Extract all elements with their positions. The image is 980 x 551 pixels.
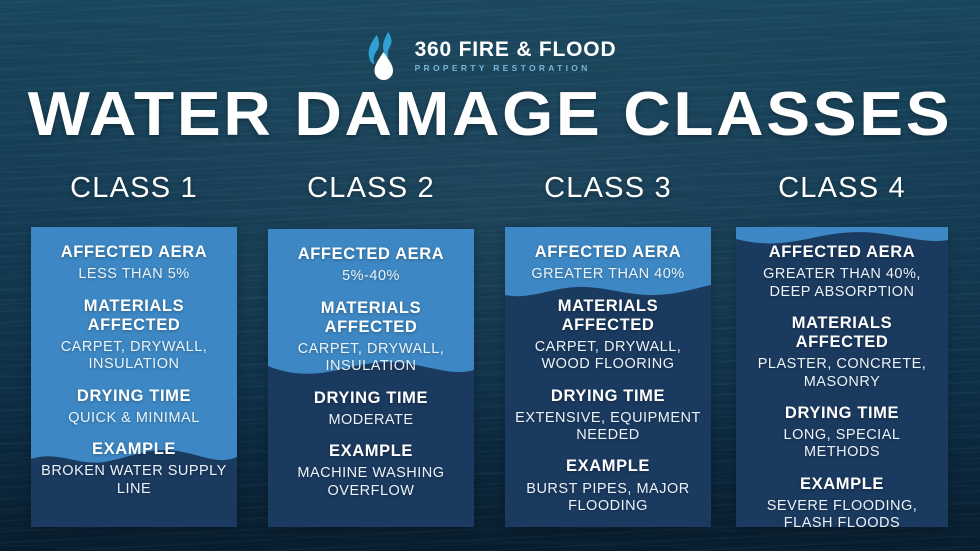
field-label: DRYING TIME: [41, 387, 227, 406]
field-example: EXAMPLE SEVERE FLOODING, FLASH FLOODS: [746, 475, 938, 527]
field-label: MATERIALS AFFECTED: [746, 314, 938, 352]
field-value: LESS THAN 5%: [41, 266, 227, 283]
field-value: MACHINE WASHING OVERFLOW: [278, 465, 464, 500]
field-materials-affected: MATERIALS AFFECTED CARPET, DRYWALL, WOOD…: [515, 297, 701, 374]
field-value: CARPET, DRYWALL, INSULATION: [278, 341, 464, 376]
field-label: MATERIALS AFFECTED: [515, 297, 701, 335]
field-label: AFFECTED AERA: [515, 243, 701, 262]
class-heading: CLASS 3: [505, 172, 711, 205]
class-card: AFFECTED AERA GREATER THAN 40% MATERIALS…: [505, 227, 711, 527]
class-heading: CLASS 4: [736, 172, 948, 205]
field-value: EXTENSIVE, EQUIPMENT NEEDED: [515, 410, 701, 445]
field-value: BROKEN WATER SUPPLY LINE: [41, 463, 227, 498]
class-heading: CLASS 1: [31, 172, 237, 205]
field-example: EXAMPLE BURST PIPES, MAJOR FLOODING: [515, 457, 701, 515]
field-affected-area: AFFECTED AERA GREATER THAN 40%: [515, 243, 701, 284]
class-card: AFFECTED AERA 5%-40% MATERIALS AFFECTED …: [268, 229, 474, 527]
field-label: DRYING TIME: [515, 387, 701, 406]
field-materials-affected: MATERIALS AFFECTED CARPET, DRYWALL, INSU…: [278, 299, 464, 376]
field-materials-affected: MATERIALS AFFECTED CARPET, DRYWALL, INSU…: [41, 297, 227, 374]
field-affected-area: AFFECTED AERA GREATER THAN 40%, DEEP ABS…: [746, 243, 938, 301]
field-materials-affected: MATERIALS AFFECTED PLASTER, CONCRETE, MA…: [746, 314, 938, 391]
field-drying-time: DRYING TIME EXTENSIVE, EQUIPMENT NEEDED: [515, 387, 701, 445]
field-example: EXAMPLE MACHINE WASHING OVERFLOW: [278, 442, 464, 500]
field-label: EXAMPLE: [278, 442, 464, 461]
card-content: AFFECTED AERA 5%-40% MATERIALS AFFECTED …: [268, 229, 474, 518]
field-value: CARPET, DRYWALL, INSULATION: [41, 339, 227, 374]
class-columns: CLASS 1 AFFECTED AERA LESS THAN 5% MATER…: [0, 0, 980, 551]
field-label: EXAMPLE: [41, 440, 227, 459]
field-value: LONG, SPECIAL METHODS: [746, 427, 938, 462]
class-card: AFFECTED AERA LESS THAN 5% MATERIALS AFF…: [31, 227, 237, 527]
field-value: MODERATE: [278, 412, 464, 429]
field-value: CARPET, DRYWALL, WOOD FLOORING: [515, 339, 701, 374]
field-label: AFFECTED AERA: [278, 245, 464, 264]
field-label: DRYING TIME: [278, 389, 464, 408]
field-drying-time: DRYING TIME LONG, SPECIAL METHODS: [746, 404, 938, 462]
card-content: AFFECTED AERA LESS THAN 5% MATERIALS AFF…: [31, 227, 237, 516]
field-drying-time: DRYING TIME MODERATE: [278, 389, 464, 430]
field-label: DRYING TIME: [746, 404, 938, 423]
field-affected-area: AFFECTED AERA LESS THAN 5%: [41, 243, 227, 284]
field-example: EXAMPLE BROKEN WATER SUPPLY LINE: [41, 440, 227, 498]
field-value: GREATER THAN 40%: [515, 266, 701, 283]
field-value: 5%-40%: [278, 268, 464, 285]
class-card: AFFECTED AERA GREATER THAN 40%, DEEP ABS…: [736, 227, 948, 527]
class-heading: CLASS 2: [268, 172, 474, 205]
field-affected-area: AFFECTED AERA 5%-40%: [278, 245, 464, 286]
field-label: MATERIALS AFFECTED: [41, 297, 227, 335]
card-content: AFFECTED AERA GREATER THAN 40%, DEEP ABS…: [736, 227, 948, 527]
card-content: AFFECTED AERA GREATER THAN 40% MATERIALS…: [505, 227, 711, 527]
field-label: EXAMPLE: [746, 475, 938, 494]
field-value: QUICK & MINIMAL: [41, 410, 227, 427]
field-value: BURST PIPES, MAJOR FLOODING: [515, 481, 701, 516]
field-label: AFFECTED AERA: [746, 243, 938, 262]
water-damage-classes-infographic: 360 FIRE & FLOOD PROPERTY RESTORATION WA…: [0, 0, 980, 551]
field-value: PLASTER, CONCRETE, MASONRY: [746, 356, 938, 391]
field-value: GREATER THAN 40%, DEEP ABSORPTION: [746, 266, 938, 301]
field-label: EXAMPLE: [515, 457, 701, 476]
field-label: MATERIALS AFFECTED: [278, 299, 464, 337]
field-label: AFFECTED AERA: [41, 243, 227, 262]
field-value: SEVERE FLOODING, FLASH FLOODS: [746, 498, 938, 527]
field-drying-time: DRYING TIME QUICK & MINIMAL: [41, 387, 227, 428]
